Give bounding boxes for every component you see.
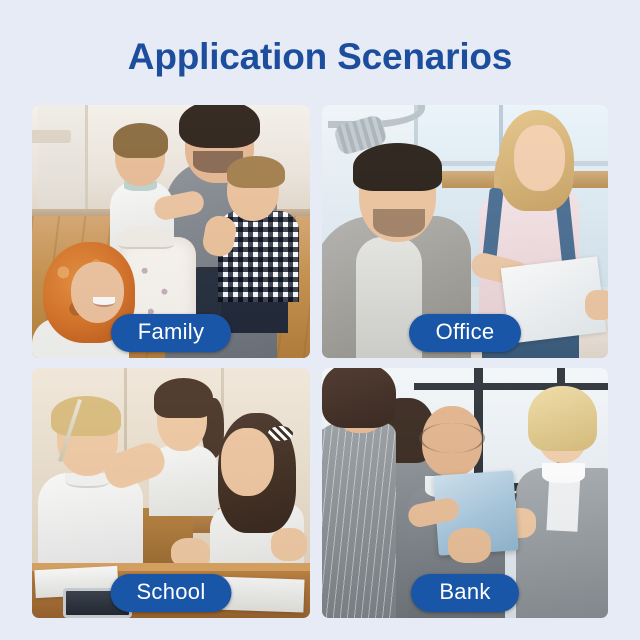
scenario-badge-bank[interactable]: Bank: [411, 574, 519, 612]
scenario-grid: Family: [32, 105, 608, 618]
man-stubble: [373, 209, 424, 237]
scenario-badge-office[interactable]: Office: [409, 314, 521, 352]
doorway: [38, 105, 88, 216]
bald-man-side-hair: [419, 423, 485, 453]
older-boy-hair: [113, 123, 169, 158]
mother-face: [71, 262, 124, 323]
younger-boy-hair: [227, 156, 285, 189]
scenario-card-bank[interactable]: Bank: [322, 368, 608, 618]
wall-shelf: [32, 130, 71, 143]
pinstripe-suit-woman-hair: [322, 368, 396, 428]
woman-head: [514, 125, 565, 191]
baby-hat: [118, 226, 174, 249]
boy-blond-hair: [51, 396, 121, 436]
hand-holding-folder: [448, 528, 491, 563]
hair-scrunchie: [268, 426, 293, 441]
scenario-badge-school[interactable]: School: [110, 574, 231, 612]
scenario-card-family[interactable]: Family: [32, 105, 310, 358]
front-girl-head: [221, 428, 274, 496]
man-hair: [353, 143, 442, 191]
scenario-badge-family[interactable]: Family: [111, 314, 231, 352]
father-hair: [179, 105, 260, 148]
front-girl-hand-right: [271, 528, 307, 561]
scenario-card-office[interactable]: Office: [322, 105, 608, 358]
pinstripe-suit-woman-body: [322, 423, 396, 618]
application-scenarios-page: Application Scenarios: [0, 0, 640, 640]
scenario-card-school[interactable]: School: [32, 368, 310, 618]
page-title: Application Scenarios: [0, 33, 640, 81]
hand-holding-document: [585, 290, 608, 320]
back-girl-hair: [154, 378, 212, 418]
blonde-woman-collar: [542, 463, 585, 483]
blonde-woman-hair: [528, 386, 597, 451]
